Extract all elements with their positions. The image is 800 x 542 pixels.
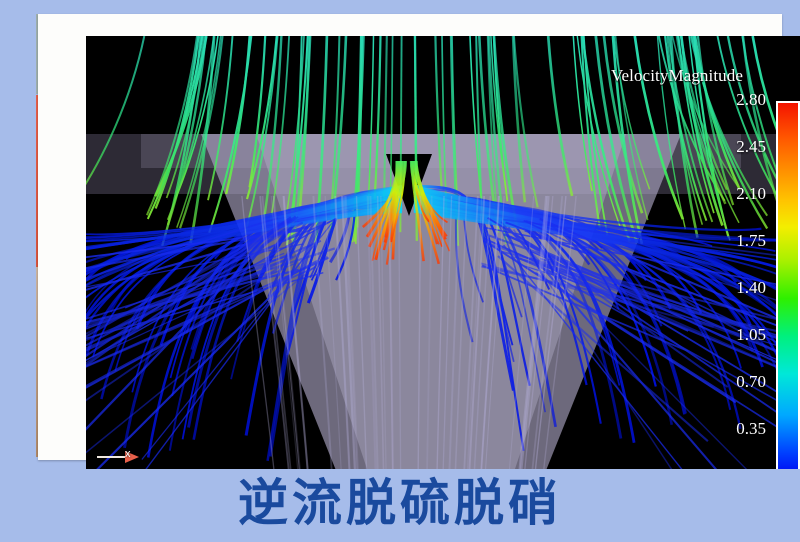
axis-indicator-arrow [95, 446, 141, 468]
colorbar-label-6: 0.70 [656, 372, 766, 392]
axis-label-x: x [125, 448, 131, 460]
render-viewport[interactable]: VelocityMagnitude 2.74 0.00 2.80 2.45 2.… [86, 36, 800, 469]
visualization-window: VelocityMagnitude 2.74 0.00 2.80 2.45 2.… [0, 0, 800, 542]
colorbar-label-5: 1.05 [656, 325, 766, 345]
colorbar-label-3: 1.75 [656, 231, 766, 251]
render-frame: VelocityMagnitude 2.74 0.00 2.80 2.45 2.… [38, 14, 782, 460]
colorbar-label-1: 2.45 [656, 137, 766, 157]
colorbar-label-7: 0.35 [656, 419, 766, 439]
colorbar[interactable] [776, 101, 800, 469]
colorbar-title: VelocityMagnitude [611, 66, 743, 86]
colorbar-label-4: 1.40 [656, 278, 766, 298]
colorbar-label-2: 2.10 [656, 184, 766, 204]
colorbar-label-0: 2.80 [656, 90, 766, 110]
figure-caption: 逆流脱硫脱硝 [0, 468, 800, 538]
